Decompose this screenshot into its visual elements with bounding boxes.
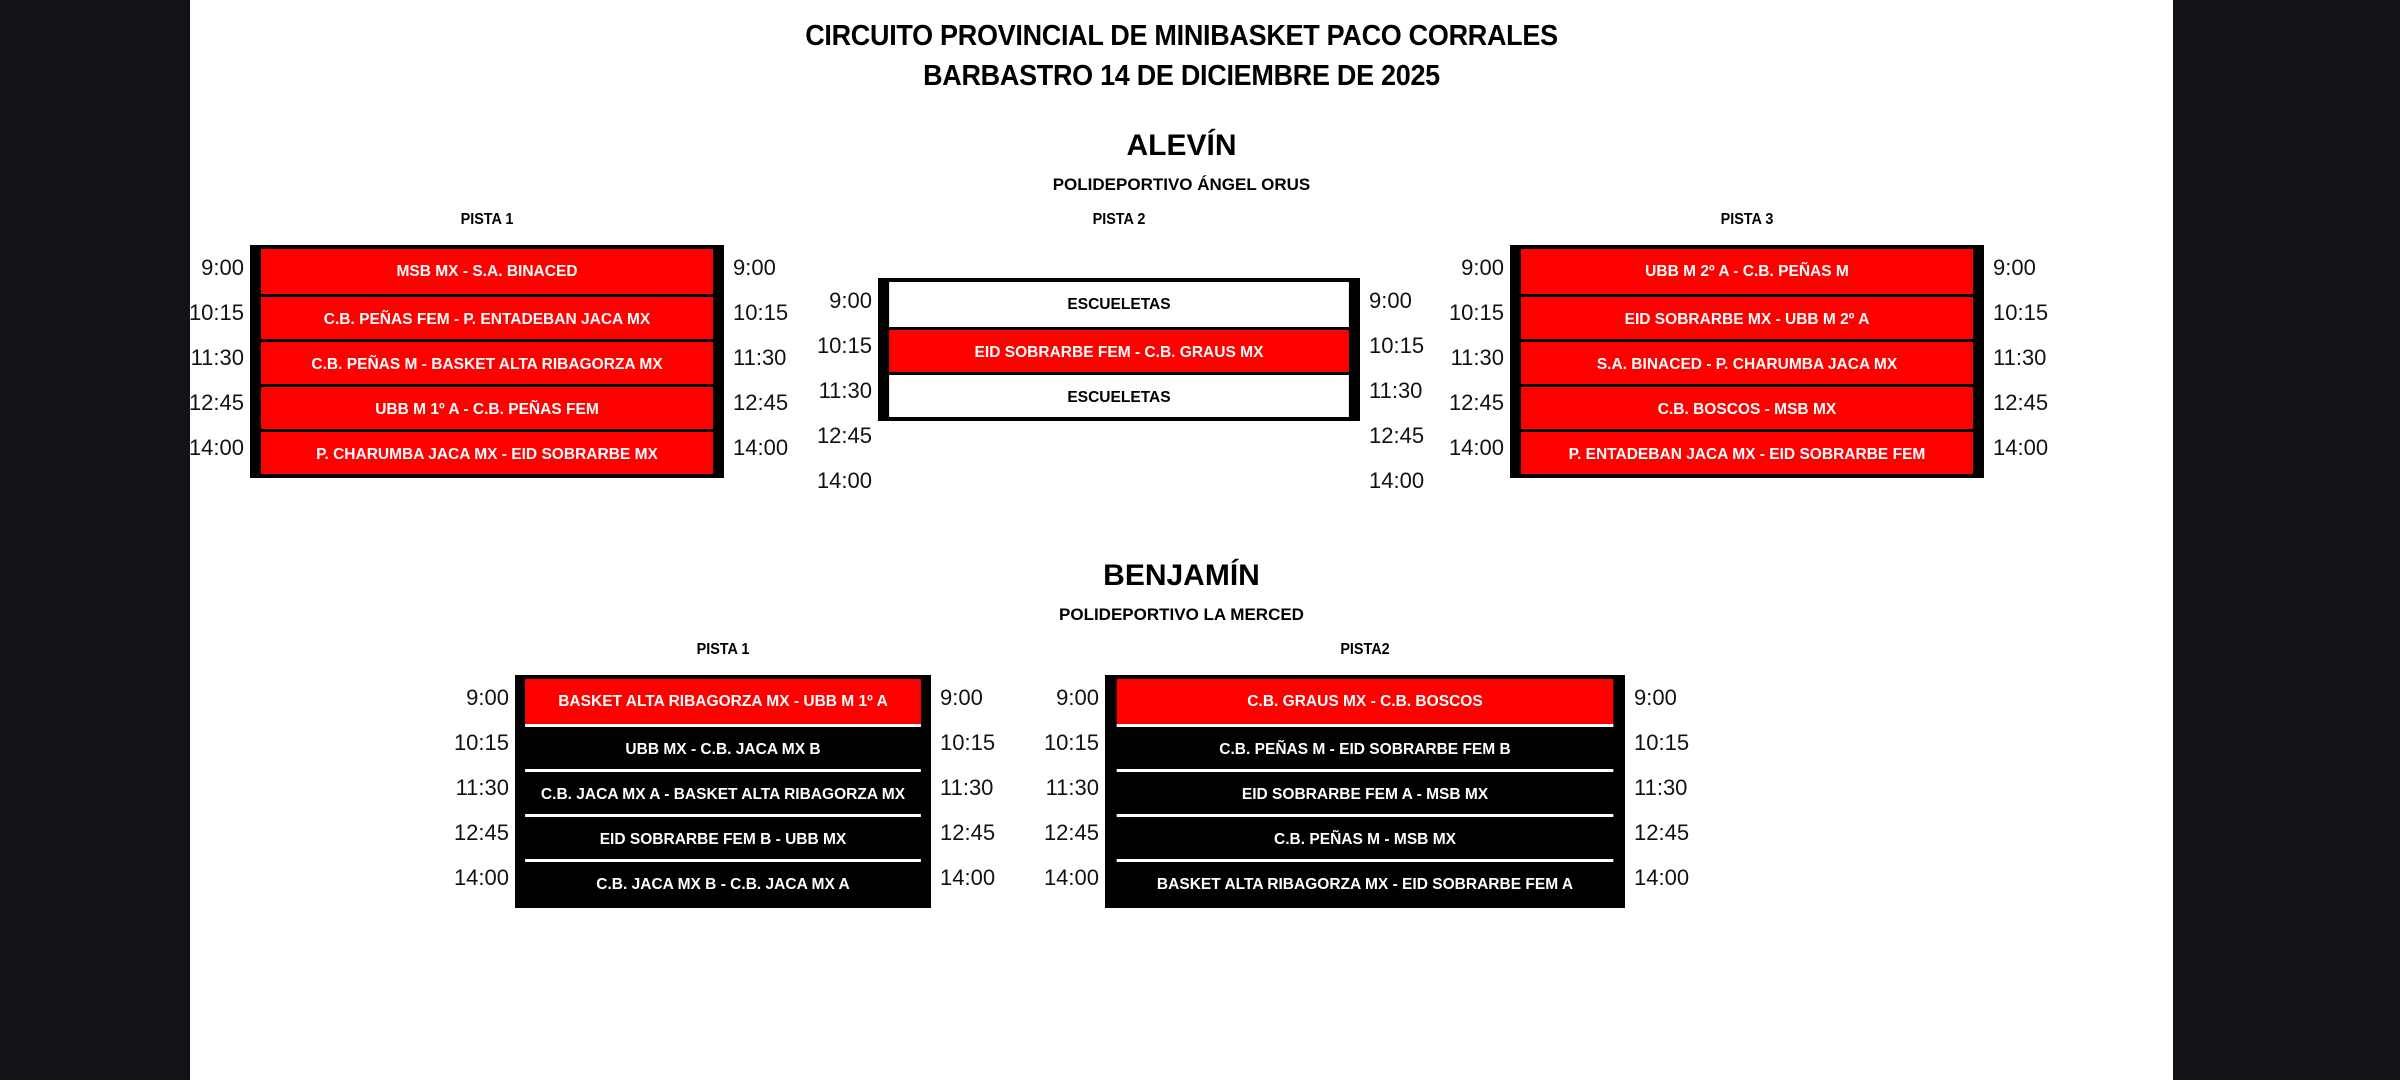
time-label: 12:45: [800, 413, 872, 458]
document-page: CIRCUITO PROVINCIAL DE MINIBASKET PACO C…: [190, 0, 2173, 1080]
section-benjamin: BENJAMÍN POLIDEPORTIVO LA MERCED PISTA 1…: [190, 559, 2173, 891]
time-label: 10:15: [1369, 323, 1441, 368]
document-header: CIRCUITO PROVINCIAL DE MINIBASKET PACO C…: [190, 20, 2173, 93]
time-label: 11:30: [1027, 765, 1099, 810]
document-title-line-1: CIRCUITO PROVINCIAL DE MINIBASKET PACO C…: [259, 20, 2103, 53]
time-label: 11:30: [1993, 335, 2065, 380]
match-row: C.B. PEÑAS M - BASKET ALTA RIBAGORZA MX: [261, 339, 713, 384]
court-title-alevin-pista-2: PISTA 2: [902, 211, 1336, 233]
time-label: 9:00: [437, 675, 509, 720]
match-row: EID SOBRARBE FEM - C.B. GRAUS MX: [889, 327, 1349, 372]
time-label: 10:15: [1634, 720, 1706, 765]
time-label: 10:15: [1432, 290, 1504, 335]
time-label: 14:00: [733, 425, 805, 470]
match-row: MSB MX - S.A. BINACED: [261, 249, 713, 294]
time-column-right-alevin-pista-3: 9:0010:1511:3012:4514:00: [1993, 245, 2065, 470]
time-column-left-benjamin-pista-1: 9:0010:1511:3012:4514:00: [437, 675, 509, 900]
time-label: 12:45: [1634, 810, 1706, 855]
time-label: 11:30: [733, 335, 805, 380]
match-row: EID SOBRARBE FEM B - UBB MX: [525, 814, 921, 859]
match-row: C.B. PEÑAS M - MSB MX: [1117, 814, 1614, 859]
court-block-alevin-pista-3: PISTA 3 9:0010:1511:3012:4514:00 9:0010:…: [1510, 211, 1984, 478]
time-column-right-alevin-pista-1: 9:0010:1511:3012:4514:00: [733, 245, 805, 470]
match-row: ESCUELETAS: [889, 282, 1349, 327]
court-title-benjamin-pista-1: PISTA 1: [536, 641, 910, 663]
match-row: BASKET ALTA RIBAGORZA MX - EID SOBRARBE …: [1117, 859, 1614, 904]
time-label: 9:00: [800, 278, 872, 323]
category-title-benjamin: BENJAMÍN: [190, 559, 2173, 593]
time-label: 14:00: [1369, 458, 1441, 503]
court-block-alevin-pista-1: PISTA 1 9:0010:1511:3012:4514:00 9:0010:…: [250, 211, 724, 478]
match-row: C.B. GRAUS MX - C.B. BOSCOS: [1117, 679, 1614, 724]
time-label: 9:00: [733, 245, 805, 290]
time-label: 12:45: [437, 810, 509, 855]
match-list-benjamin-pista-1: BASKET ALTA RIBAGORZA MX - UBB M 1º AUBB…: [515, 675, 931, 908]
category-title-alevin: ALEVÍN: [190, 129, 2173, 163]
time-label: 10:15: [1993, 290, 2065, 335]
time-label: 12:45: [733, 380, 805, 425]
time-column-right-alevin-pista-2: 9:0010:1511:3012:4514:00: [1369, 278, 1441, 503]
match-row: C.B. BOSCOS - MSB MX: [1521, 384, 1973, 429]
time-label: 12:45: [1369, 413, 1441, 458]
time-column-right-benjamin-pista-2: 9:0010:1511:3012:4514:00: [1634, 675, 1706, 900]
court-block-benjamin-pista-2: PISTA2 9:0010:1511:3012:4514:00 9:0010:1…: [1105, 641, 1625, 908]
section-alevin: ALEVÍN POLIDEPORTIVO ÁNGEL ORUS PISTA 1 …: [190, 129, 2173, 471]
time-label: 9:00: [190, 245, 244, 290]
court-title-alevin-pista-3: PISTA 3: [1534, 211, 1961, 233]
time-label: 9:00: [1369, 278, 1441, 323]
time-column-left-alevin-pista-1: 9:0010:1511:3012:4514:00: [190, 245, 244, 470]
time-label: 11:30: [940, 765, 1012, 810]
time-label: 14:00: [190, 425, 244, 470]
time-column-left-alevin-pista-3: 9:0010:1511:3012:4514:00: [1432, 245, 1504, 470]
time-label: 11:30: [1634, 765, 1706, 810]
time-label: 10:15: [1027, 720, 1099, 765]
court-block-alevin-pista-2: PISTA 2 9:0010:1511:3012:4514:00 9:0010:…: [878, 211, 1360, 421]
match-row: UBB MX - C.B. JACA MX B: [525, 724, 921, 769]
courts-row-alevin: PISTA 1 9:0010:1511:3012:4514:00 9:0010:…: [190, 211, 2173, 471]
time-label: 9:00: [1027, 675, 1099, 720]
match-row: C.B. JACA MX B - C.B. JACA MX A: [525, 859, 921, 904]
match-row: P. ENTADEBAN JACA MX - EID SOBRARBE FEM: [1521, 429, 1973, 474]
document-title-line-2: BARBASTRO 14 DE DICIEMBRE DE 2025: [259, 60, 2103, 93]
match-row: S.A. BINACED - P. CHARUMBA JACA MX: [1521, 339, 1973, 384]
time-label: 12:45: [190, 380, 244, 425]
time-label: 11:30: [190, 335, 244, 380]
match-row: UBB M 2º A - C.B. PEÑAS M: [1521, 249, 1973, 294]
time-column-right-benjamin-pista-1: 9:0010:1511:3012:4514:00: [940, 675, 1012, 900]
time-label: 12:45: [1432, 380, 1504, 425]
match-row: P. CHARUMBA JACA MX - EID SOBRARBE MX: [261, 429, 713, 474]
venue-title-alevin: POLIDEPORTIVO ÁNGEL ORUS: [190, 175, 2173, 195]
time-label: 9:00: [940, 675, 1012, 720]
match-list-alevin-pista-2: ESCUELETASEID SOBRARBE FEM - C.B. GRAUS …: [878, 278, 1360, 421]
match-row: C.B. PEÑAS M - EID SOBRARBE FEM B: [1117, 724, 1614, 769]
time-label: 9:00: [1634, 675, 1706, 720]
time-label: 11:30: [1432, 335, 1504, 380]
time-label: 10:15: [437, 720, 509, 765]
time-label: 14:00: [1993, 425, 2065, 470]
match-row: EID SOBRARBE FEM A - MSB MX: [1117, 769, 1614, 814]
time-label: 12:45: [940, 810, 1012, 855]
time-label: 11:30: [800, 368, 872, 413]
time-label: 14:00: [1027, 855, 1099, 900]
match-row: C.B. PEÑAS FEM - P. ENTADEBAN JACA MX: [261, 294, 713, 339]
court-block-benjamin-pista-1: PISTA 1 9:0010:1511:3012:4514:00 9:0010:…: [515, 641, 931, 908]
time-label: 9:00: [1432, 245, 1504, 290]
time-column-left-benjamin-pista-2: 9:0010:1511:3012:4514:00: [1027, 675, 1099, 900]
court-title-alevin-pista-1: PISTA 1: [274, 211, 701, 233]
time-label: 12:45: [1993, 380, 2065, 425]
time-label: 10:15: [733, 290, 805, 335]
match-list-alevin-pista-3: UBB M 2º A - C.B. PEÑAS MEID SOBRARBE MX…: [1510, 245, 1984, 478]
courts-row-benjamin: PISTA 1 9:0010:1511:3012:4514:00 9:0010:…: [190, 641, 2173, 891]
time-label: 14:00: [1432, 425, 1504, 470]
match-row: EID SOBRARBE MX - UBB M 2º A: [1521, 294, 1973, 339]
time-label: 11:30: [1369, 368, 1441, 413]
time-label: 10:15: [800, 323, 872, 368]
match-list-alevin-pista-1: MSB MX - S.A. BINACEDC.B. PEÑAS FEM - P.…: [250, 245, 724, 478]
time-label: 14:00: [437, 855, 509, 900]
time-label: 14:00: [940, 855, 1012, 900]
time-label: 10:15: [190, 290, 244, 335]
time-label: 12:45: [1027, 810, 1099, 855]
time-column-left-alevin-pista-2: 9:0010:1511:3012:4514:00: [800, 278, 872, 503]
time-label: 14:00: [800, 458, 872, 503]
time-label: 11:30: [437, 765, 509, 810]
match-list-benjamin-pista-2: C.B. GRAUS MX - C.B. BOSCOSC.B. PEÑAS M …: [1105, 675, 1625, 908]
match-row: C.B. JACA MX A - BASKET ALTA RIBAGORZA M…: [525, 769, 921, 814]
time-label: 9:00: [1993, 245, 2065, 290]
match-row: UBB M 1º A - C.B. PEÑAS FEM: [261, 384, 713, 429]
match-row: ESCUELETAS: [889, 372, 1349, 417]
court-title-benjamin-pista-2: PISTA2: [1131, 641, 1599, 663]
venue-title-benjamin: POLIDEPORTIVO LA MERCED: [190, 605, 2173, 625]
time-label: 10:15: [940, 720, 1012, 765]
match-row: BASKET ALTA RIBAGORZA MX - UBB M 1º A: [525, 679, 921, 724]
time-label: 14:00: [1634, 855, 1706, 900]
